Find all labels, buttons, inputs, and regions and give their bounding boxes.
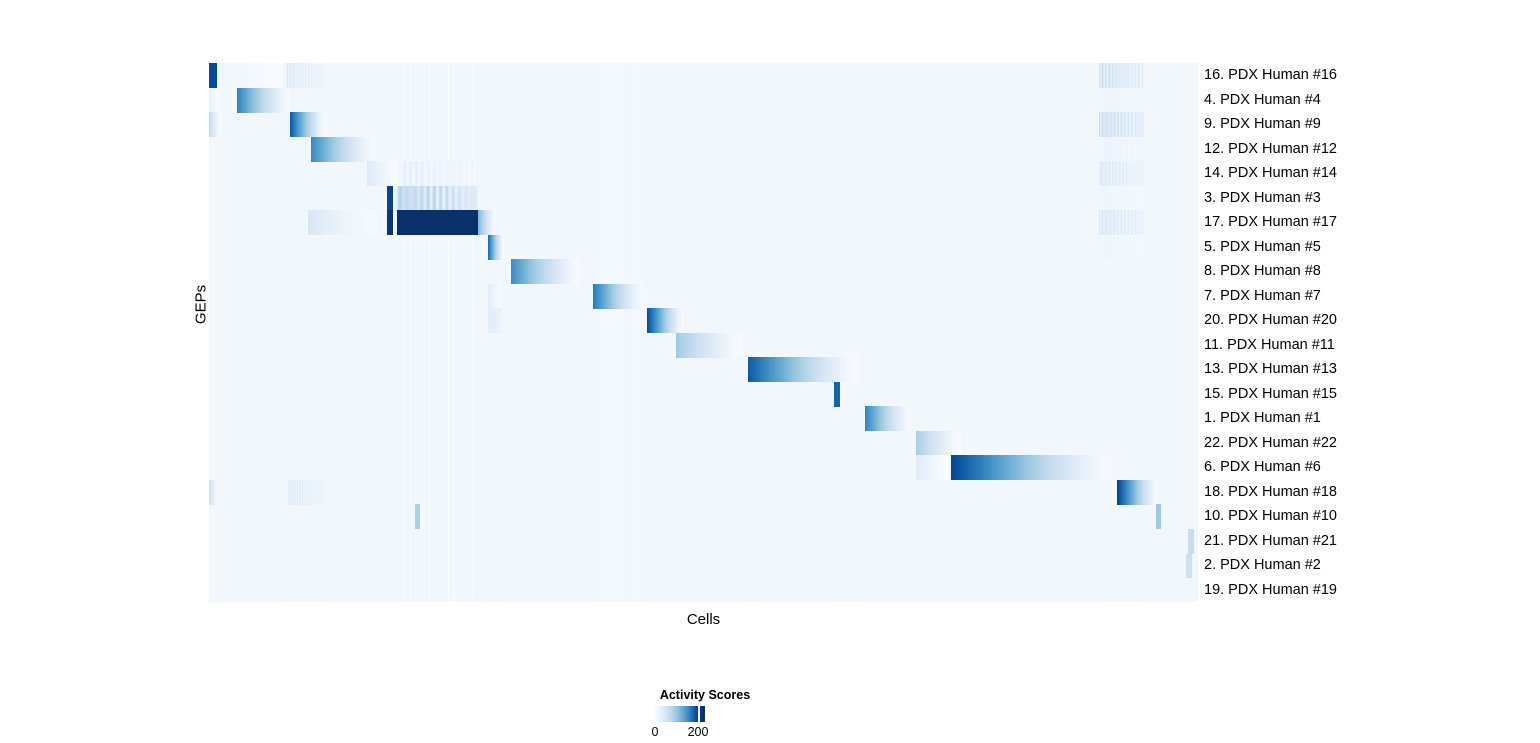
heatmap-row[interactable] [209,308,1198,333]
row-label: 17. PDX Human #17 [1204,214,1337,230]
heatmap-block [311,137,375,162]
heatmap-row[interactable] [209,480,1198,505]
x-axis-title: Cells [209,611,1198,628]
heatmap-row[interactable] [209,553,1198,578]
heatmap-block [1104,137,1144,162]
heatmap-block [1099,112,1144,137]
row-label-list: 16. PDX Human #164. PDX Human #49. PDX H… [1204,63,1504,606]
heatmap-row[interactable] [209,161,1198,186]
heatmap-block [488,284,501,309]
heatmap-block [1156,504,1161,529]
heatmap-block [286,63,323,88]
heatmap-block [237,88,290,113]
row-label: 8. PDX Human #8 [1204,263,1321,279]
row-label: 16. PDX Human #16 [1204,67,1337,83]
row-label: 3. PDX Human #3 [1204,190,1321,206]
heatmap-block [217,63,283,88]
heatmap-block [1104,88,1144,113]
row-label: 7. PDX Human #7 [1204,288,1321,304]
heatmap-row[interactable] [209,406,1198,431]
row-label: 5. PDX Human #5 [1204,239,1321,255]
heatmap-row[interactable] [209,112,1198,137]
colorbar-wrap[interactable]: 0200 [655,706,705,722]
heatmap-block [1099,63,1144,88]
heatmap-block [397,186,478,211]
colorbar-tick-label: 0 [652,725,659,739]
heatmap-block [951,455,1111,480]
heatmap-block [308,210,377,235]
colorbar-title: Activity Scores [600,688,810,702]
y-axis-title: GEPs [193,275,210,335]
row-label: 15. PDX Human #15 [1204,386,1337,402]
heatmap-block [865,406,911,431]
heatmap-block [387,186,393,211]
heatmap-block [209,480,219,505]
heatmap-row[interactable] [209,455,1198,480]
heatmap-row[interactable] [209,88,1198,113]
heatmap-block [1117,480,1159,505]
heatmap-block [593,284,644,309]
heatmap-block [387,210,393,235]
row-label: 6. PDX Human #6 [1204,459,1321,475]
heatmap-block [1186,553,1192,578]
row-label: 1. PDX Human #1 [1204,410,1321,426]
heatmap-block [397,210,478,235]
heatmap-row[interactable] [209,63,1198,88]
heatmap-block [290,112,326,137]
heatmap-block [1099,161,1144,186]
row-label: 10. PDX Human #10 [1204,508,1337,524]
row-label: 4. PDX Human #4 [1204,92,1321,108]
heatmap-block [288,480,323,505]
heatmap-block [402,161,478,186]
colorbar-legend: Activity Scores 0200 [600,688,810,743]
heatmap-block [209,88,219,113]
colorbar-tick [698,706,700,722]
heatmap-row[interactable] [209,333,1198,358]
heatmap-block [1104,235,1144,260]
heatmap-block [209,112,221,137]
heatmap-row[interactable] [209,186,1198,211]
heatmap-block [748,357,857,382]
heatmap-row[interactable] [209,357,1198,382]
row-label: 13. PDX Human #13 [1204,361,1337,377]
heatmap-block [415,504,420,529]
heatmap-block [834,382,840,407]
heatmap-block [209,63,217,88]
heatmap-row[interactable] [209,259,1198,284]
heatmap-block [916,455,949,480]
heatmap-block [676,333,743,358]
row-label: 22. PDX Human #22 [1204,435,1337,451]
heatmap-row[interactable] [209,137,1198,162]
heatmap-row[interactable] [209,235,1198,260]
heatmap-block [367,161,397,186]
heatmap-block [478,210,496,235]
heatmap-figure: GEPs Cells 16. PDX Human #164. PDX Human… [0,0,1540,743]
heatmap-row[interactable] [209,284,1198,309]
row-label: 9. PDX Human #9 [1204,116,1321,132]
heatmap-block [1188,529,1194,554]
row-label: 11. PDX Human #11 [1204,337,1335,353]
heatmap-block [511,259,580,284]
row-label: 20. PDX Human #20 [1204,312,1337,328]
row-label: 18. PDX Human #18 [1204,484,1337,500]
heatmap-block [488,308,502,333]
row-label: 12. PDX Human #12 [1204,141,1337,157]
colorbar-tick-label: 200 [688,725,709,739]
heatmap-block [1104,186,1144,211]
heatmap-row[interactable] [209,431,1198,456]
heatmap-block [647,308,684,333]
heatmap-row[interactable] [209,504,1198,529]
row-label: 19. PDX Human #19 [1204,582,1337,598]
row-label: 2. PDX Human #2 [1204,557,1321,573]
heatmap-block [488,235,504,260]
heatmap-row[interactable] [209,210,1198,235]
heatmap-row[interactable] [209,578,1198,603]
heatmap-block [1099,210,1144,235]
row-label: 21. PDX Human #21 [1204,533,1337,549]
heatmap-plot-area[interactable] [209,63,1198,602]
heatmap-block [916,431,961,456]
heatmap-row[interactable] [209,529,1198,554]
heatmap-row[interactable] [209,382,1198,407]
row-label: 14. PDX Human #14 [1204,165,1337,181]
